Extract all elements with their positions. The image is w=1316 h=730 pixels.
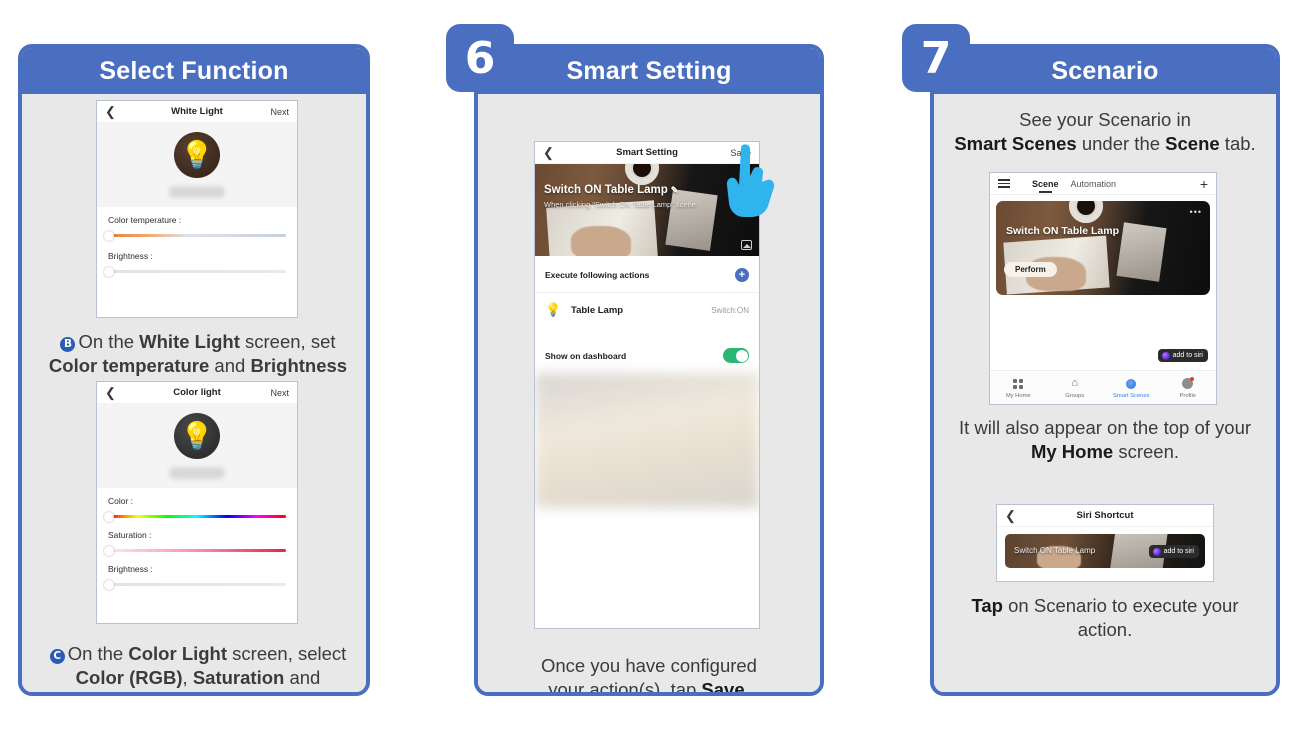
nav-label-groups: Groups <box>1047 393 1104 399</box>
screen-white-light: ❮ White Light Next 💡 Color temperature :… <box>96 100 298 318</box>
screen-color-light-title: Color light <box>97 387 297 398</box>
action-row-table-lamp[interactable]: 💡 Table Lamp Switch:ON <box>535 292 759 327</box>
photos-decor <box>666 189 718 251</box>
blurred-device-name <box>169 186 225 198</box>
slider-color-temperature[interactable]: Color temperature : <box>97 207 297 237</box>
perform-button[interactable]: Perform <box>1004 262 1057 277</box>
slider-color[interactable]: Color : <box>97 488 297 518</box>
bulb-icon: 💡 <box>545 302 571 318</box>
slider-brightness-color[interactable]: Brightness : <box>97 552 297 586</box>
scene-description: When clicking "Switch ON Table Lamp" sce… <box>544 200 696 209</box>
profile-icon <box>1160 377 1217 391</box>
slider-color-temperature-label: Color temperature : <box>108 215 286 225</box>
panel-body-scenario: See your Scenario inSmart Scenes under t… <box>934 94 1276 692</box>
coffee-cup-decor <box>625 164 659 185</box>
image-icon[interactable] <box>741 240 752 250</box>
caption-scenario-bottom: Tap on Scenario to execute your action. <box>942 594 1268 643</box>
scene-icon <box>1103 377 1160 391</box>
slider-brightness-color-label: Brightness : <box>108 564 286 574</box>
slider-color-track[interactable] <box>108 515 286 518</box>
nav-label-profile: Profile <box>1160 393 1217 399</box>
blurred-background <box>535 373 759 508</box>
coffee-cup-decor <box>1069 201 1103 223</box>
tab-automation[interactable]: Automation <box>1071 179 1117 189</box>
caption-scenario-top: See your Scenario inSmart Scenes under t… <box>942 108 1268 157</box>
execute-actions-header: Execute following actions + <box>535 260 759 290</box>
slider-color-temperature-track[interactable] <box>108 234 286 237</box>
more-dots-icon[interactable]: ••• <box>1190 207 1202 217</box>
show-on-dashboard-toggle[interactable] <box>723 348 749 363</box>
bulb-glyph: 💡 <box>180 423 214 450</box>
screen-scene: Scene Automation + ••• Switch ON Table L… <box>989 172 1217 405</box>
nav-label-my-home: My Home <box>990 393 1047 399</box>
panel-select-function: Select Function ❮ White Light Next 💡 Col… <box>18 44 370 696</box>
scene-name: Switch ON Table Lamp✎ <box>544 184 678 196</box>
bulb-glyph: 💡 <box>180 142 214 169</box>
chevron-left-icon[interactable]: ❮ <box>105 386 121 399</box>
siri-orb-icon <box>1153 548 1161 556</box>
add-to-siri-chip[interactable]: add to siri <box>1158 349 1208 362</box>
bulb-preview-warm: 💡 <box>97 123 297 207</box>
nav-item-smart-scenes[interactable]: Smart Scenes <box>1103 377 1160 399</box>
chevron-left-icon[interactable]: ❮ <box>543 146 559 159</box>
scene-name-text: Switch ON Table Lamp <box>544 184 668 196</box>
bulb-icon: 💡 <box>174 413 220 459</box>
slider-saturation-label: Saturation : <box>108 530 286 540</box>
panel-title-select-function: Select Function <box>22 48 366 94</box>
step-badge-6: 6 <box>446 24 514 92</box>
screen-white-light-title: White Light <box>97 106 297 117</box>
slider-knob[interactable] <box>104 580 114 590</box>
scene-card-title: Switch ON Table Lamp <box>1006 225 1119 237</box>
panel-title-scenario: Scenario <box>934 48 1276 94</box>
panel-scenario: Scenario See your Scenario inSmart Scene… <box>930 44 1280 696</box>
panel-title-smart-setting: Smart Setting <box>478 48 820 94</box>
slider-brightness-white[interactable]: Brightness : <box>97 237 297 273</box>
grid-icon <box>990 377 1047 391</box>
pointing-hand-cursor <box>720 140 776 218</box>
photos-decor <box>1117 222 1167 281</box>
add-to-siri-label: add to siri <box>1164 548 1194 555</box>
home-icon: ⌂ <box>1047 377 1104 391</box>
nav-item-profile[interactable]: Profile <box>1160 377 1217 399</box>
caption-c-text: On the Color Light screen, select Color … <box>68 643 347 696</box>
slider-knob[interactable] <box>104 267 114 277</box>
slider-color-label: Color : <box>108 496 286 506</box>
next-button-white-light[interactable]: Next <box>270 107 289 117</box>
caption-smart-setting: Once you have configuredyour action(s), … <box>488 654 810 696</box>
bullet-marker-b: B <box>60 337 75 352</box>
hamburger-icon[interactable] <box>998 177 1010 190</box>
siri-orb-icon <box>1162 352 1170 360</box>
slider-knob[interactable] <box>104 231 114 241</box>
action-device-name: Table Lamp <box>571 305 623 316</box>
caption-c: COn the Color Light screen, select Color… <box>28 642 368 696</box>
siri-card-title: Switch ON Table Lamp <box>1014 546 1095 555</box>
siri-shortcut-title: Siri Shortcut <box>997 510 1213 521</box>
caption-scenario-mid: It will also appear on the top of yourMy… <box>942 416 1268 465</box>
bulb-preview-cool: 💡 <box>97 404 297 488</box>
slider-brightness-color-track[interactable] <box>108 583 286 586</box>
chevron-left-icon[interactable]: ❮ <box>1005 509 1021 522</box>
action-device-value: Switch:ON <box>711 306 749 315</box>
nav-item-groups[interactable]: ⌂ Groups <box>1047 377 1104 399</box>
slider-brightness-white-track[interactable] <box>108 270 286 273</box>
slider-knob[interactable] <box>104 546 114 556</box>
bottom-navigation: My Home ⌂ Groups Smart Scenes Profile <box>990 370 1216 404</box>
add-to-siri-label: add to siri <box>1173 352 1203 359</box>
slider-saturation-track[interactable] <box>108 549 286 552</box>
nav-label-smart-scenes: Smart Scenes <box>1103 393 1160 399</box>
slider-saturation[interactable]: Saturation : <box>97 518 297 552</box>
instruction-board: Select Function ❮ White Light Next 💡 Col… <box>0 0 1316 730</box>
next-button-color-light[interactable]: Next <box>270 388 289 398</box>
plus-circle-icon[interactable]: + <box>735 268 749 282</box>
add-to-siri-chip[interactable]: add to siri <box>1149 545 1199 558</box>
show-on-dashboard-row[interactable]: Show on dashboard <box>535 338 759 373</box>
siri-shortcut-statusbar: ❮ Siri Shortcut <box>997 505 1213 527</box>
blurred-device-name <box>169 467 225 479</box>
screen-white-light-statusbar: ❮ White Light Next <box>97 101 297 123</box>
screen-color-light-statusbar: ❮ Color light Next <box>97 382 297 404</box>
panel-body-smart-setting: ❮ Smart Setting Save Switch ON Table Lam… <box>478 94 820 692</box>
scene-card-switch-on-table-lamp[interactable]: ••• Switch ON Table Lamp Perform <box>996 201 1210 295</box>
pencil-icon[interactable]: ✎ <box>671 185 679 195</box>
step-badge-7: 7 <box>902 24 970 92</box>
siri-shortcut-card[interactable]: Switch ON Table Lamp add to siri <box>1005 534 1205 568</box>
screen-color-light: ❮ Color light Next 💡 Color : Saturation … <box>96 381 298 624</box>
tab-scene[interactable]: Scene <box>1032 179 1059 189</box>
chevron-left-icon[interactable]: ❮ <box>105 105 121 118</box>
scene-tabs: Scene Automation <box>1032 179 1116 189</box>
show-on-dashboard-label: Show on dashboard <box>545 351 626 361</box>
panel-body-select-function: ❮ White Light Next 💡 Color temperature :… <box>22 94 366 692</box>
slider-brightness-white-label: Brightness : <box>108 251 286 261</box>
panel-smart-setting: Smart Setting ❮ Smart Setting Save Switc… <box>474 44 824 696</box>
bulb-icon: 💡 <box>174 132 220 178</box>
bullet-marker-c: C <box>50 649 65 664</box>
slider-knob[interactable] <box>104 512 114 522</box>
screen-siri-shortcut: ❮ Siri Shortcut Switch ON Table Lamp add… <box>996 504 1214 582</box>
hand-decor <box>571 226 631 256</box>
execute-actions-label: Execute following actions <box>545 270 649 280</box>
scene-topbar: Scene Automation + <box>990 173 1216 195</box>
nav-item-my-home[interactable]: My Home <box>990 377 1047 399</box>
plus-icon[interactable]: + <box>1200 177 1208 191</box>
